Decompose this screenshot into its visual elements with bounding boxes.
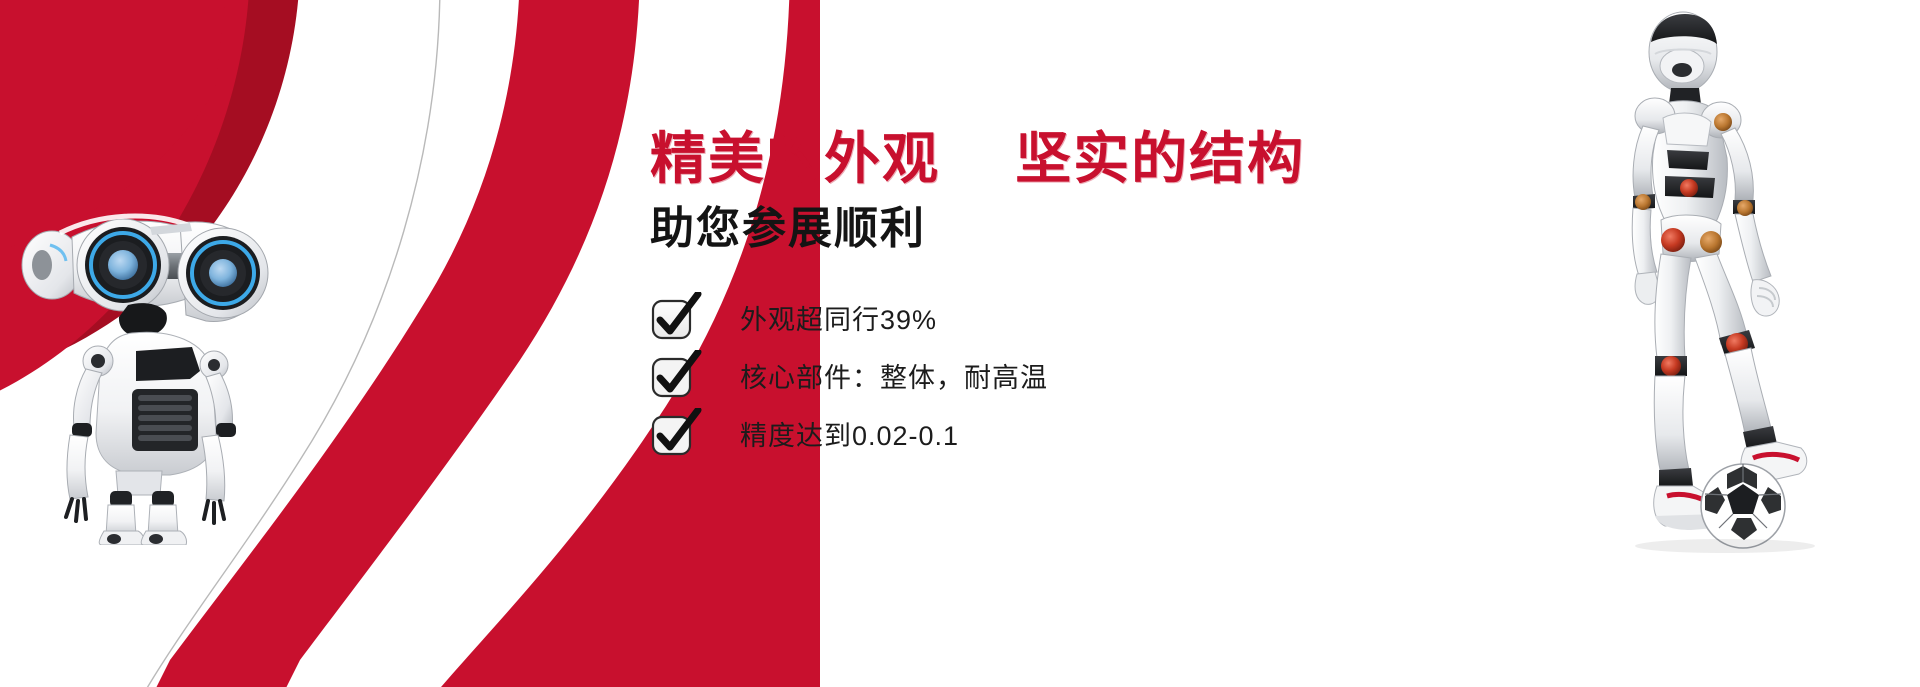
checkbox-checked-icon (650, 356, 690, 394)
list-item-label: 外观超同行39% (740, 298, 937, 337)
checkbox-checked-icon (650, 298, 690, 336)
list-item-label: 核心部件：整体，耐高温 (740, 356, 1048, 395)
headline-part-2: 坚实的结构 (1015, 127, 1305, 190)
list-item: 精度达到0.02-0.1 (650, 413, 1550, 453)
promo-banner: 精美的外观 坚实的结构 助您参展顺利 (0, 0, 1920, 687)
list-item: 外观超同行39% (650, 297, 1550, 337)
feature-list: 外观超同行39% 核心部件：整体，耐高温 精 (650, 297, 1550, 453)
copy-block: 精美的外观 坚实的结构 助您参展顺利 (650, 128, 1550, 471)
list-item-label: 精度达到0.02-0.1 (740, 414, 959, 453)
humanoid-robot-with-soccer-ball-illustration (1555, 8, 1855, 553)
checkbox-checked-icon (650, 414, 690, 452)
binocular-robot-illustration (20, 165, 310, 545)
headline-part-1: 精美的外观 (650, 127, 940, 190)
subheadline: 助您参展顺利 (650, 205, 1550, 253)
list-item: 核心部件：整体，耐高温 (650, 355, 1550, 395)
headline: 精美的外观 坚实的结构 (650, 128, 1550, 191)
